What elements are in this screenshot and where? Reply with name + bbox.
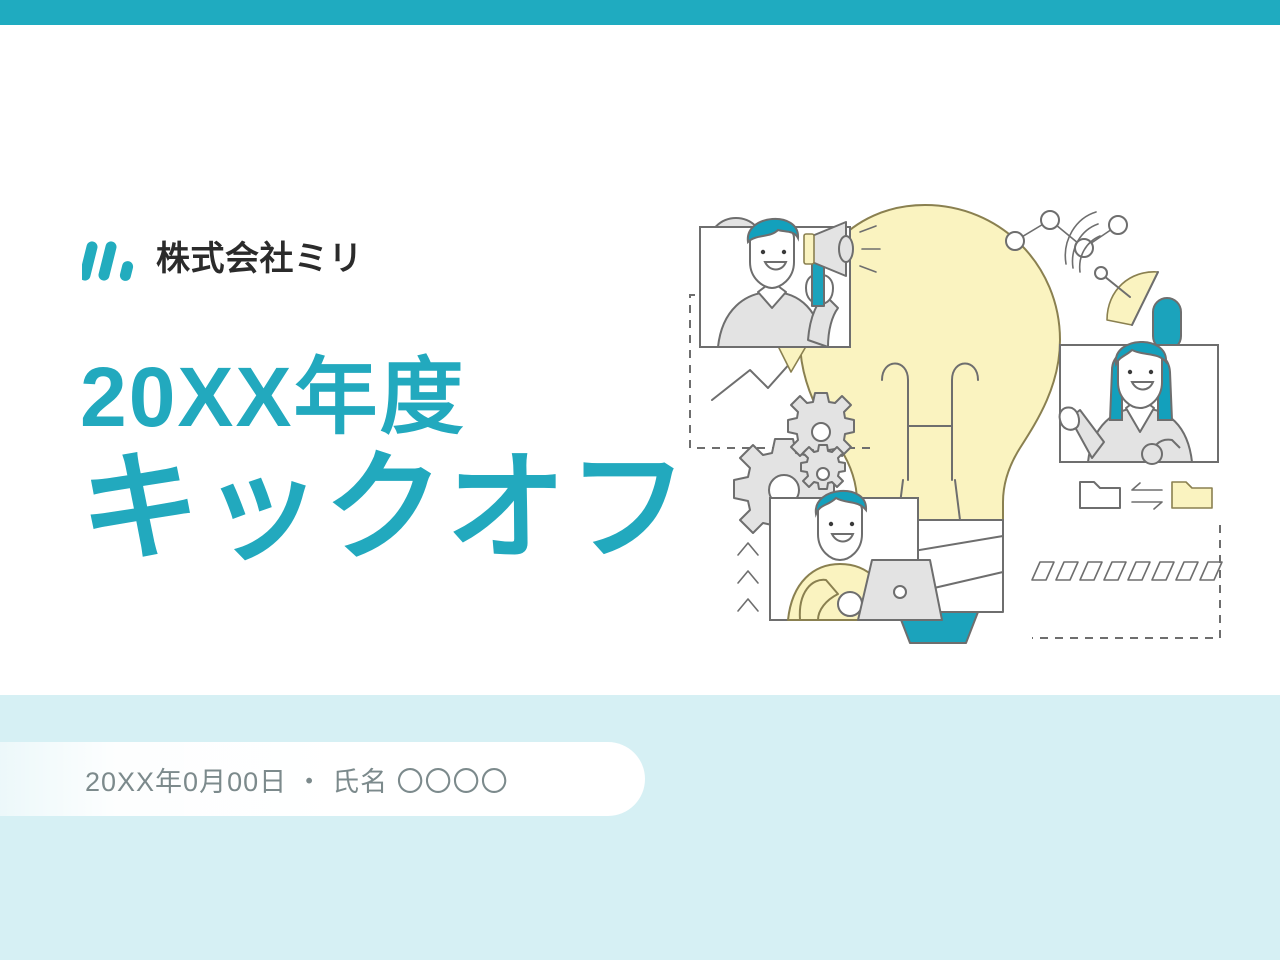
video-frame-man-laptop <box>770 491 942 620</box>
milli-m-mark-icon <box>82 236 138 282</box>
parallelogram-row <box>1032 562 1222 580</box>
teamwork-lightbulb-illustration: .ln { fill:none; stroke:#6E6E6E; stroke-… <box>660 180 1240 660</box>
footer-meta-text: 20XX年0月00日 ・ 氏名 〇〇〇〇 <box>85 760 509 799</box>
gear-tiny-icon <box>801 445 845 489</box>
footer-band <box>0 695 1280 960</box>
brand-lockup: 株式会社ミリ <box>82 236 363 282</box>
growth-arrow-icon <box>712 340 808 400</box>
dashed-frame-right <box>1032 525 1220 638</box>
chevron-stack-icon <box>738 543 758 611</box>
title-line-kickoff: キックオフ <box>80 445 690 571</box>
page-title: 20XX年度 キックオフ <box>80 352 690 571</box>
slide-root: 株式会社ミリ 20XX年度 キックオフ 20XX年0月00日 ・ 氏名 〇〇〇〇… <box>0 0 1280 960</box>
folder-exchange-icon <box>1080 482 1212 509</box>
footer-meta-pill: 20XX年0月00日 ・ 氏名 〇〇〇〇 <box>0 742 645 816</box>
title-line-fiscal-year: 20XX年度 <box>80 352 690 443</box>
video-frame-woman-waving <box>1060 342 1218 464</box>
brand-name: 株式会社ミリ <box>156 242 363 276</box>
top-accent-bar <box>0 0 1280 25</box>
